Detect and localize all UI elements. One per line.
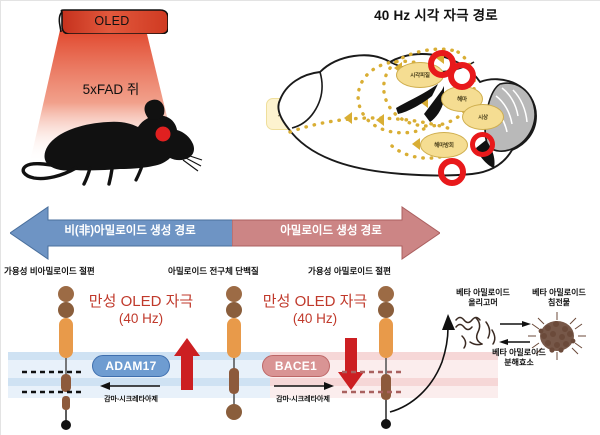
enzyme-badge-adam17: ADAM17 bbox=[92, 355, 170, 377]
panel-oled-mouse: OLED 5xFAD 쥐 bbox=[0, 0, 272, 190]
mouse-eye-marker bbox=[156, 127, 171, 142]
gamma-secretase-label-left: 감마-시크레타아제 bbox=[86, 394, 176, 404]
chronic-oled-stimulation-left-freq: (40 Hz) bbox=[66, 311, 216, 326]
amyloid-plaque-ring bbox=[448, 62, 476, 90]
chronic-oled-stimulation-left: 만성 OLED 자극 (40 Hz) bbox=[66, 294, 216, 326]
beta-amyloid-plaque-label: 베타 아밀로이드 침전물 bbox=[520, 288, 598, 308]
enzyme-badge-bace1: BACE1 bbox=[262, 355, 330, 377]
secretase-direction-arrow-left bbox=[100, 380, 162, 392]
mouse-silhouette bbox=[16, 92, 226, 188]
secretase-direction-arrow-right bbox=[272, 380, 334, 392]
caption-soluble-non-amyloid-fragment: 가용성 비아밀로이드 절편 bbox=[4, 265, 95, 277]
brain-node-thalamus: 시상 bbox=[462, 104, 504, 130]
oled-panel bbox=[56, 8, 168, 34]
caption-amyloid-precursor-protein: 아밀로이드 전구체 단백질 bbox=[168, 265, 259, 277]
gamma-secretase-cleavage-left bbox=[20, 368, 86, 404]
gamma-secretase-label-right: 감마-시크레타아제 bbox=[258, 394, 348, 404]
aggregation-equilibrium-arrows bbox=[498, 318, 532, 350]
caption-soluble-amyloid-fragment: 가용성 아밀로이드 절편 bbox=[308, 265, 391, 277]
non-amyloidogenic-pathway-label: 비(非)아밀로이드 생성 경로 bbox=[30, 222, 230, 238]
amyloidogenic-pathway-label: 아밀로이드 생성 경로 bbox=[236, 222, 426, 238]
brain-outline-svg bbox=[272, 22, 600, 190]
figure-root: OLED 5xFAD 쥐 40 Hz 시각 자극 경로 시각 자극 신호 bbox=[0, 0, 600, 435]
amyloid-plaque-ring bbox=[438, 158, 466, 186]
beta-amyloid-degrading-enzyme-label: 베타 아밀로이드 분해효소 bbox=[466, 348, 572, 368]
brain-node-parahippocampal: 해마방회 bbox=[420, 132, 468, 158]
upregulation-arrow-left bbox=[174, 338, 200, 390]
amyloid-plaque-ring bbox=[470, 132, 495, 157]
chronic-oled-stimulation-left-title: 만성 OLED 자극 bbox=[66, 294, 216, 311]
brain-diagram-title: 40 Hz 시각 자극 경로 bbox=[272, 4, 600, 24]
